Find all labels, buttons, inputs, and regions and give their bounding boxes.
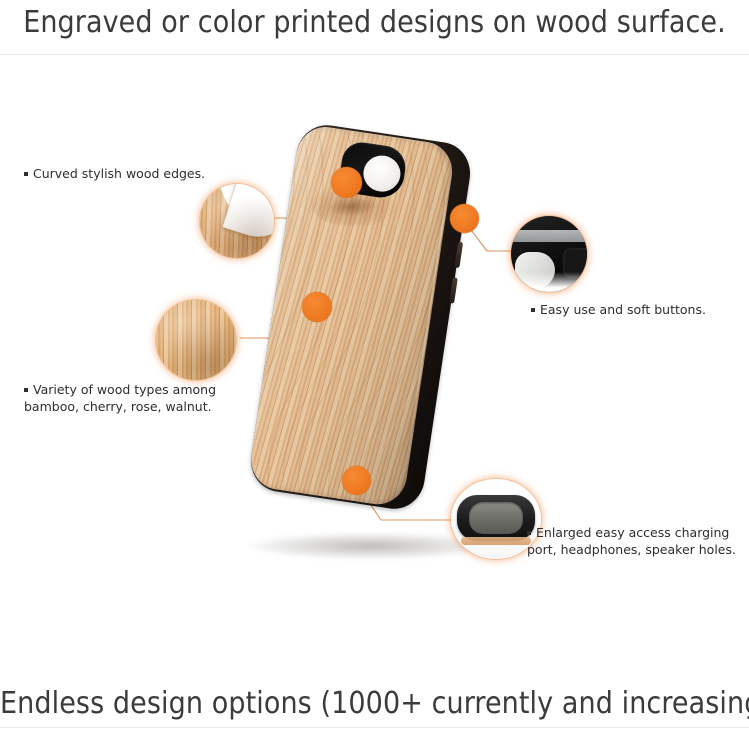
infographic-stage: Engraved or color printed designs on woo… [0,0,749,731]
callout-wood-types-line1: Variety of wood types among [24,381,216,398]
hotspot-charging-port[interactable] [342,466,371,495]
bullet-icon [24,172,28,176]
inset-soft-buttons [511,216,587,292]
charging-port-lip [461,537,531,545]
hotspot-soft-buttons[interactable] [450,204,479,233]
callout-charging-port-line1: Enlarged easy access charging [527,524,736,541]
callout-curved-edges-line1: Curved stylish wood edges. [24,165,205,182]
bullet-icon [24,388,28,392]
camera-lens [361,153,403,194]
callout-wood-types: Variety of wood types among bamboo, cher… [24,381,216,415]
callout-curved-edges: Curved stylish wood edges. [24,165,205,182]
divider-top [0,54,749,55]
callout-soft-buttons-line1: Easy use and soft buttons. [531,301,706,318]
page-title-top: Engraved or color printed designs on woo… [0,3,749,43]
callout-wood-types-line2: bamboo, cherry, rose, walnut. [24,398,216,415]
inset-curved-edge-shading [200,184,274,258]
hotspot-curved-edges[interactable] [331,167,362,198]
inset-wood-types [156,300,236,380]
callout-charging-port-line2: port, headphones, speaker holes. [527,541,736,558]
callout-charging-port: Enlarged easy access charging port, head… [527,524,736,558]
button-bezel-strip [511,230,587,242]
callout-soft-buttons: Easy use and soft buttons. [531,301,706,318]
page-title-bottom: Endless design options (1000+ currently … [0,684,749,724]
inset-curved-edge [200,184,274,258]
inset-wood-types-shading [156,300,236,380]
charging-port-ring [457,495,535,541]
charging-port-opening [469,502,523,534]
hotspot-wood-types[interactable] [302,292,332,322]
inset-soft-buttons-fade [511,272,587,292]
divider-bottom [0,727,749,728]
bullet-icon [531,308,535,312]
bullet-icon [527,531,531,535]
